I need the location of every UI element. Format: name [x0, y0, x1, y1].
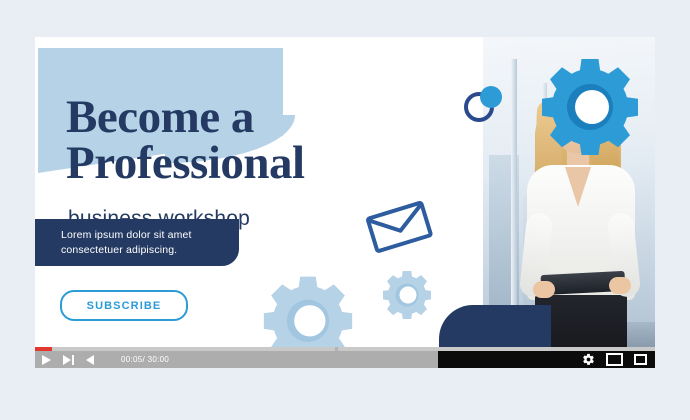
time-display: 00:05/ 30:00 [121, 355, 169, 364]
gear-large-icon [540, 55, 640, 155]
gear-icon[interactable] [582, 353, 595, 366]
volume-icon [86, 355, 94, 365]
play-button[interactable] [35, 351, 57, 368]
screenshot-stage: Become a Professional business workshop … [0, 0, 690, 420]
gear-small-icon [382, 269, 432, 319]
player-controls-bar: 00:05/ 30:00 [35, 351, 655, 368]
left-controls [35, 351, 101, 368]
video-thumbnail-card: Become a Professional business workshop … [35, 37, 655, 368]
volume-button[interactable] [79, 351, 101, 368]
subscribe-button[interactable]: SUBSCRIBE [60, 290, 188, 321]
next-icon [63, 355, 74, 365]
play-icon [42, 355, 51, 365]
presenter-hand-right [609, 277, 631, 294]
right-controls [582, 351, 647, 368]
envelope-icon [363, 198, 435, 254]
message-line-2: consectetuer adipiscing. [61, 244, 177, 256]
fullscreen-icon[interactable] [634, 354, 647, 365]
headline-line-1: Become a [66, 91, 254, 143]
presenter-hand-left [533, 281, 555, 298]
message-text: Lorem ipsum dolor sit ametconsectetuer a… [61, 228, 229, 258]
headline-line-2: Professional [66, 140, 466, 186]
circles-icon [460, 82, 508, 126]
message-line-1: Lorem ipsum dolor sit amet [61, 229, 192, 241]
miniplayer-icon[interactable] [606, 353, 623, 366]
message-box: Lorem ipsum dolor sit ametconsectetuer a… [35, 219, 239, 266]
page-title: Become a Professional [66, 94, 466, 186]
next-button[interactable] [57, 351, 79, 368]
